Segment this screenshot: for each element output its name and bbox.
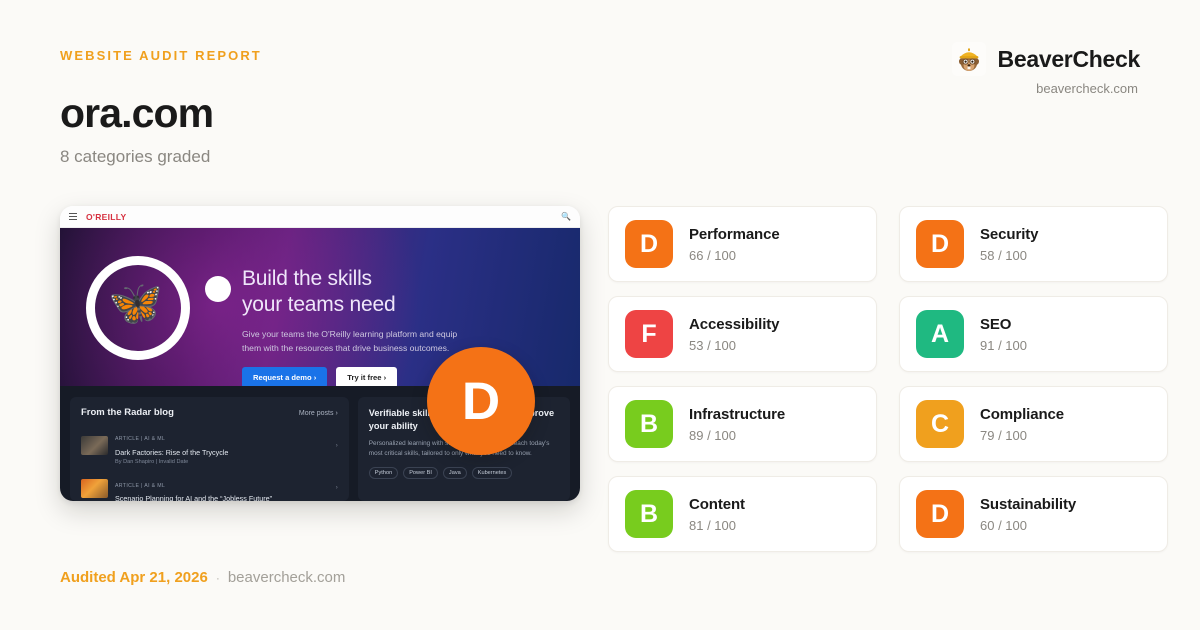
try-free-button[interactable]: Try it free ›: [336, 367, 397, 386]
oreilly-logo: O'REILLY: [86, 212, 126, 222]
radar-blog-header: From the Radar blog More posts ›: [81, 407, 338, 418]
brand-block: BeaverCheck beavercheck.com: [952, 42, 1140, 96]
category-name: Performance: [689, 226, 780, 243]
score-card-compliance[interactable]: C Compliance 79 / 100: [899, 386, 1168, 462]
brand-row: BeaverCheck: [952, 42, 1140, 76]
article-thumbnail: [81, 479, 108, 498]
category-name: Sustainability: [980, 496, 1076, 513]
radar-blog-panel: From the Radar blog More posts › ARTICLE…: [70, 397, 349, 501]
score-card-infrastructure[interactable]: B Infrastructure 89 / 100: [608, 386, 877, 462]
grade-badge: C: [916, 400, 964, 448]
browser-chrome-bar: O'REILLY 🔍: [60, 206, 580, 228]
category-score: 53 / 100: [689, 338, 779, 353]
grade-badge: A: [916, 310, 964, 358]
report-header: WEBSITE AUDIT REPORT ora.com 8 categorie…: [60, 48, 262, 167]
promo-tag[interactable]: Power BI: [403, 467, 438, 479]
score-card-content[interactable]: B Content 81 / 100: [608, 476, 877, 552]
promo-tag[interactable]: Java: [443, 467, 467, 479]
hero-heading-line1: Build the skills: [242, 267, 372, 290]
grade-badge: B: [625, 490, 673, 538]
category-score: 89 / 100: [689, 428, 785, 443]
category-score: 79 / 100: [980, 428, 1064, 443]
grade-badge: D: [916, 220, 964, 268]
grade-badge: B: [625, 400, 673, 448]
score-card-seo[interactable]: A SEO 91 / 100: [899, 296, 1168, 372]
butterfly-icon: 🦋: [108, 282, 170, 334]
hero-heading-line2: your teams need: [242, 293, 395, 316]
article-title: Scenario Planning for AI and the “Jobles…: [115, 494, 272, 501]
chevron-right-icon: ›: [336, 485, 338, 491]
page-title: ora.com: [60, 93, 262, 134]
beaver-hardhat-icon: [952, 42, 986, 76]
more-posts-link[interactable]: More posts ›: [299, 410, 338, 417]
brand-url: beavercheck.com: [1036, 81, 1138, 96]
category-score: 60 / 100: [980, 518, 1076, 533]
grade-badge: D: [916, 490, 964, 538]
promo-tag-list: Python Power BI Java Kubernetes: [369, 467, 559, 479]
category-score: 81 / 100: [689, 518, 745, 533]
footer-separator: ·: [216, 571, 220, 585]
category-name: Infrastructure: [689, 406, 785, 423]
article-meta: ARTICLE | AI & ML: [115, 483, 165, 489]
radar-blog-title: From the Radar blog: [81, 407, 174, 418]
list-item[interactable]: ARTICLE | AI & ML Dark Factories: Rise o…: [81, 427, 338, 465]
request-demo-button[interactable]: Request a demo ›: [242, 367, 327, 386]
brand-name: BeaverCheck: [998, 46, 1140, 73]
hero-dot-graphic: [205, 276, 231, 302]
score-card-grid: D Performance 66 / 100 D Security 58 / 1…: [608, 206, 1168, 552]
score-card-accessibility[interactable]: F Accessibility 53 / 100: [608, 296, 877, 372]
promo-tag[interactable]: Python: [369, 467, 398, 479]
score-card-security[interactable]: D Security 58 / 100: [899, 206, 1168, 282]
category-name: Security: [980, 226, 1038, 243]
category-name: Content: [689, 496, 745, 513]
chevron-right-icon: ›: [336, 443, 338, 449]
category-score: 58 / 100: [980, 248, 1038, 263]
score-card-sustainability[interactable]: D Sustainability 60 / 100: [899, 476, 1168, 552]
hero-paragraph: Give your teams the O'Reilly learning pl…: [242, 328, 472, 355]
list-item[interactable]: ARTICLE | AI & ML Scenario Planning for …: [81, 474, 338, 502]
overall-grade-badge: D: [427, 347, 535, 455]
category-name: Compliance: [980, 406, 1064, 423]
category-name: SEO: [980, 316, 1027, 333]
category-score: 91 / 100: [980, 338, 1027, 353]
report-footer: Audited Apr 21, 2026 · beavercheck.com: [60, 569, 345, 586]
categories-subtitle: 8 categories graded: [60, 147, 262, 167]
category-score: 66 / 100: [689, 248, 780, 263]
article-byline: By Dan Shapiro | Invalid Date: [115, 459, 228, 465]
article-thumbnail: [81, 436, 108, 455]
search-icon[interactable]: 🔍: [561, 212, 571, 221]
grade-badge: F: [625, 310, 673, 358]
article-title: Dark Factories: Rise of the Trycycle: [115, 448, 228, 457]
audit-date: Audited Apr 21, 2026: [60, 569, 208, 586]
article-meta: ARTICLE | AI & ML: [115, 436, 165, 442]
category-name: Accessibility: [689, 316, 779, 333]
score-card-performance[interactable]: D Performance 66 / 100: [608, 206, 877, 282]
footer-url: beavercheck.com: [228, 569, 346, 586]
report-kicker: WEBSITE AUDIT REPORT: [60, 48, 262, 63]
grade-badge: D: [625, 220, 673, 268]
hamburger-icon[interactable]: [69, 213, 77, 220]
promo-tag[interactable]: Kubernetes: [472, 467, 513, 479]
